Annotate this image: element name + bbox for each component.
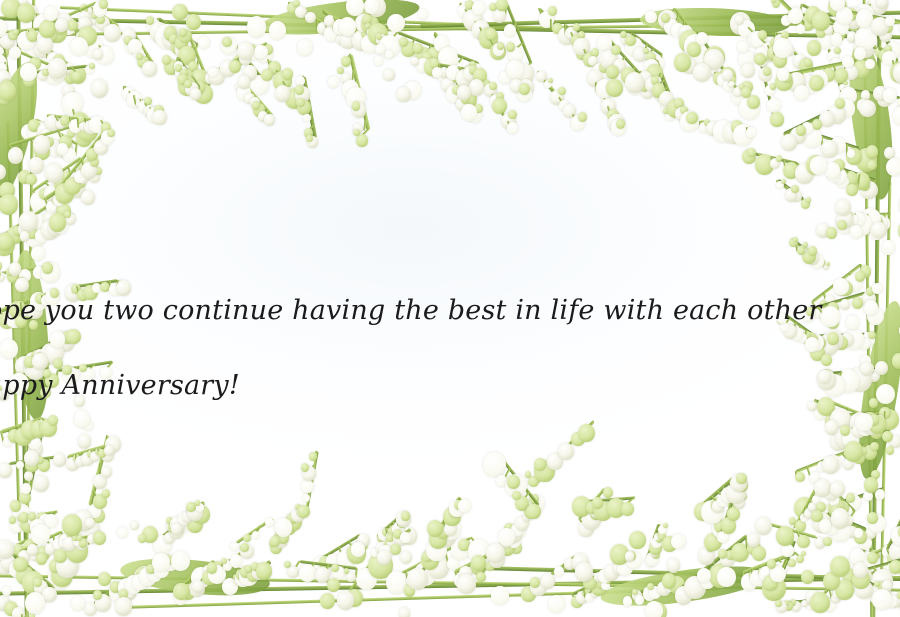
flower-stem (877, 46, 900, 91)
flower-green-bud (287, 2, 298, 14)
flower-stem (129, 583, 131, 589)
flower-bell (42, 587, 57, 603)
flower-stem (878, 487, 885, 493)
flower-bell (0, 595, 10, 611)
flower-stem (372, 17, 375, 25)
flower-green-bud (28, 119, 40, 131)
flower-green-bud (596, 578, 606, 588)
flower-bell (504, 24, 516, 37)
flower-bell (882, 51, 896, 66)
flower-green-bud (0, 233, 13, 250)
flower-bell (884, 594, 897, 608)
flower-bell (872, 589, 892, 610)
flower-bell (871, 582, 891, 603)
flower-bell (875, 489, 885, 500)
flower-stem (413, 579, 417, 591)
flower-bell (866, 528, 877, 540)
flower-stem (325, 24, 329, 34)
flower-green-bud (91, 12, 98, 19)
flower-green-bud (293, 0, 300, 7)
flower-bell (78, 17, 91, 31)
flower-bell (870, 6, 881, 18)
flower-stem (866, 177, 871, 186)
flower-green-bud (25, 458, 38, 472)
flower-bell (869, 214, 887, 233)
flower-stem (0, 597, 5, 602)
flower-bell (25, 454, 39, 469)
flower-green-bud (13, 557, 27, 573)
flower-bell (885, 42, 900, 59)
flower-stem (659, 584, 662, 594)
flower-green-bud (661, 13, 670, 23)
flower-stem (674, 14, 680, 28)
flower-stem (861, 14, 865, 19)
flower-green-bud (376, 33, 383, 40)
flower-bell (18, 220, 35, 238)
flower-stem (810, 599, 815, 604)
flower-stem (165, 26, 173, 35)
flower-stem (354, 29, 361, 40)
flower-green-bud (23, 539, 37, 554)
flower-stem (882, 17, 891, 25)
flower-stem (875, 16, 880, 23)
flower-stem (119, 585, 123, 593)
flower-bell (17, 31, 34, 50)
flower-bell (866, 587, 876, 598)
flower-bell (833, 589, 841, 598)
flower-green-bud (762, 575, 786, 601)
flower-green-bud (29, 71, 37, 79)
flower-bell (15, 0, 29, 12)
flower-bell (19, 211, 38, 232)
flower-bell (0, 37, 2, 46)
flower-stem (872, 213, 874, 219)
flower-bell (457, 574, 475, 593)
flower-leaf (259, 0, 421, 39)
flower-green-bud (871, 470, 880, 480)
flower-green-bud (110, 581, 121, 593)
flower-stem (571, 593, 578, 601)
flower-bell (645, 601, 663, 617)
flower-stem (91, 10, 96, 21)
flower-green-bud (820, 18, 831, 29)
flower-green-bud (82, 27, 88, 33)
flower-green-bud (620, 31, 627, 38)
flower-bell (776, 601, 787, 613)
flower-green-bud (819, 16, 825, 23)
flower-bell (305, 12, 315, 23)
flower-green-bud (26, 28, 36, 39)
flower-stem (863, 580, 874, 590)
flower-stem (2, 27, 46, 34)
flower-stem (513, 23, 515, 31)
flower-green-bud (879, 49, 891, 61)
flower-bell (882, 580, 893, 592)
flower-green-bud (20, 515, 37, 533)
flower-green-bud (356, 2, 365, 12)
flower-stem (95, 2, 99, 10)
flower-stem (834, 24, 843, 32)
flower-green-bud (867, 552, 878, 564)
flower-stem (6, 553, 15, 561)
flower-bell (859, 552, 873, 567)
flower-green-bud (648, 602, 667, 617)
flower-green-bud (784, 600, 789, 606)
flower-stem (173, 31, 179, 39)
flower-green-bud (869, 550, 880, 562)
flower-stem (365, 5, 368, 11)
flower-bell (635, 595, 645, 605)
flower-bell (20, 63, 37, 81)
flower-green-bud (9, 31, 18, 40)
flower-bell (873, 15, 887, 30)
flower-green-bud (632, 589, 638, 596)
flower-bell (0, 463, 12, 477)
flower-bell (844, 7, 864, 29)
flower-bell (109, 582, 128, 602)
flower-bell (16, 461, 24, 469)
flower-stem (51, 10, 56, 19)
flower-stem (182, 584, 188, 592)
flower-bell (42, 590, 54, 602)
flower-bell (789, 6, 802, 20)
flower-bell (269, 21, 287, 40)
flower-green-bud (816, 27, 826, 38)
flower-stem (864, 213, 868, 225)
flower-green-bud (181, 584, 196, 600)
flower-stem (392, 576, 395, 583)
flower-bell (861, 90, 871, 101)
flower-stem (11, 547, 17, 554)
flower-stem (32, 190, 40, 202)
flower-bell (632, 590, 642, 601)
flower-green-bud (93, 590, 103, 600)
flower-bell (738, 20, 755, 38)
flower-stem (831, 0, 898, 32)
flower-leaf (639, 3, 791, 41)
flower-green-bud (0, 41, 9, 61)
flower-stem (50, 581, 58, 596)
flower-green-bud (775, 600, 782, 607)
flower-green-bud (578, 31, 586, 39)
flower-green-bud (867, 160, 876, 170)
flower-bell (57, 13, 72, 29)
flower-stem (880, 515, 883, 524)
flower-stem (788, 601, 792, 606)
flower-green-bud (33, 578, 41, 587)
flower-stem (854, 12, 859, 18)
flower-stem (469, 15, 472, 21)
flower-bell (801, 600, 807, 607)
flower-bell (25, 592, 45, 613)
flower-stem (28, 30, 30, 37)
flower-green-bud (889, 560, 900, 574)
flower-stem (0, 556, 3, 568)
flower-stem (14, 608, 20, 614)
flower-green-bud (805, 6, 821, 24)
flower-stem (24, 72, 30, 80)
flower-green-bud (771, 0, 776, 3)
flower-green-bud (878, 582, 890, 595)
flower-green-bud (860, 180, 870, 191)
flower-stem (822, 594, 832, 604)
flower-stem (777, 0, 780, 5)
flower-stem (120, 587, 720, 609)
flower-bell (44, 23, 59, 39)
flower-stem (297, 6, 302, 11)
flower-bell (885, 16, 895, 26)
flower-stem (842, 21, 845, 28)
flower-stem (637, 591, 640, 596)
flower-stem (0, 597, 45, 617)
flower-green-bud (13, 29, 18, 35)
flower-green-bud (806, 598, 812, 604)
flower-green-bud (39, 20, 55, 38)
flower-green-bud (179, 28, 187, 37)
flower-stem (886, 501, 900, 551)
flower-green-bud (16, 566, 34, 585)
flower-green-bud (0, 194, 18, 215)
flower-green-bud (591, 578, 607, 595)
flower-bell (591, 590, 599, 599)
flower-stem (322, 9, 367, 38)
flower-green-bud (530, 577, 540, 588)
flower-stem (878, 213, 880, 224)
flower-stem (862, 91, 866, 97)
flower-stem (882, 31, 884, 36)
flower-bell (30, 552, 39, 561)
flower-stem (4, 88, 11, 98)
flower-bell (623, 596, 633, 606)
flower-green-bud (465, 0, 474, 10)
flower-bell (844, 578, 853, 588)
flower-bell (92, 13, 104, 25)
card-message-line-2: appy Anniversary! (0, 369, 900, 404)
flower-stem (197, 577, 204, 587)
flower-stem (2, 32, 5, 42)
flower-stem (589, 585, 593, 595)
flower-green-bud (866, 145, 879, 159)
flower-stem (33, 214, 40, 223)
flower-green-bud (582, 589, 589, 597)
flower-stem (134, 578, 138, 585)
flower-bell (147, 19, 161, 34)
flower-stem (8, 0, 11, 7)
flower-stem (52, 587, 55, 595)
flower-stem (678, 576, 683, 586)
flower-stem (856, 577, 862, 590)
flower-stem (37, 28, 45, 37)
flower-bell (43, 24, 53, 35)
flower-stem (840, 10, 844, 16)
flower-green-bud (362, 14, 372, 25)
flower-bell (21, 483, 31, 493)
flower-green-bud (19, 492, 31, 505)
flower-stem (781, 602, 785, 608)
flower-bell (491, 586, 508, 605)
flower-stem (53, 27, 56, 33)
flower-stem (601, 579, 606, 586)
flower-stem (61, 17, 63, 22)
flower-stem (44, 19, 51, 31)
flower-stem (801, 3, 869, 41)
flower-stem (823, 17, 829, 23)
flower-bell (643, 586, 657, 601)
flower-stem (871, 525, 877, 533)
flower-green-bud (1, 232, 14, 246)
flower-bell (806, 590, 820, 605)
flower-bell (0, 540, 14, 559)
flower-green-bud (835, 580, 854, 600)
flower-stem (679, 588, 685, 595)
flower-bell (0, 54, 7, 72)
flower-stem (78, 9, 85, 18)
flower-bell (893, 62, 900, 84)
flower-bell (796, 24, 805, 33)
flower-bell (12, 607, 25, 617)
flower-bell (387, 14, 404, 33)
flower-green-bud (99, 0, 108, 9)
flower-bell (85, 14, 95, 25)
flower-stem (43, 580, 47, 589)
flower-bell (27, 544, 37, 555)
flower-stem (896, 61, 898, 71)
flower-green-bud (838, 587, 844, 593)
flower-green-bud (883, 22, 893, 33)
flower-stem (10, 229, 12, 235)
flower-stem (25, 502, 28, 514)
flower-stem (896, 529, 900, 535)
flower-green-bud (887, 552, 899, 565)
flower-stem (870, 179, 876, 190)
flower-bell (9, 46, 21, 59)
flower-bell (84, 602, 97, 616)
flower-stem (89, 6, 118, 27)
flower-stem (652, 586, 654, 594)
flower-bell (115, 597, 132, 616)
flower-bell (96, 16, 110, 31)
flower-stem (892, 60, 896, 73)
flower-green-bud (173, 583, 189, 600)
flower-stem (63, 19, 66, 27)
flower-bell (1, 555, 16, 571)
flower-stem (571, 579, 602, 596)
flower-green-bud (19, 512, 29, 523)
flower-bell (24, 471, 33, 481)
flower-green-bud (548, 6, 557, 16)
flower-green-bud (361, 27, 372, 39)
flower-stem (88, 7, 91, 13)
flower-bell (55, 18, 68, 32)
flower-bell (192, 580, 204, 593)
flower-stem (106, 591, 111, 604)
flower-bell (675, 586, 692, 604)
flower-green-bud (9, 516, 17, 524)
flower-bell (823, 598, 836, 612)
flower-stem (464, 8, 471, 16)
flower-stem (23, 516, 28, 523)
flower-stem (190, 578, 193, 590)
flower-green-bud (0, 182, 15, 200)
flower-bell (295, 6, 306, 18)
flower-stem (288, 1, 290, 9)
flower-bell (0, 164, 6, 180)
flower-stem (8, 0, 54, 29)
flower-stem (883, 213, 885, 225)
flower-bell (6, 544, 25, 564)
flower-stem (44, 24, 49, 30)
flower-stem (784, 10, 793, 19)
flower-stem (26, 466, 35, 475)
flower-bell (93, 1, 108, 17)
flower-green-bud (790, 599, 796, 606)
flower-stem (632, 576, 683, 596)
flower-bell (868, 585, 886, 604)
flower-stem (876, 48, 879, 54)
flower-green-bud (146, 16, 154, 25)
flower-stem (631, 593, 634, 602)
flower-stem (10, 31, 13, 36)
flower-stem (852, 32, 856, 38)
flower-stem (835, 580, 839, 591)
flower-bell (0, 70, 11, 87)
flower-bell (658, 10, 676, 30)
flower-stem (25, 539, 29, 547)
flower-green-bud (327, 578, 340, 592)
flower-stem (307, 13, 309, 19)
flower-green-bud (841, 578, 851, 589)
flower-stem (741, 21, 746, 30)
flower-stem (35, 13, 42, 25)
flower-green-bud (583, 576, 596, 590)
flower-green-bud (606, 578, 611, 584)
flower-green-bud (8, 30, 17, 40)
flower-stem (861, 529, 866, 538)
flower-bell (548, 595, 565, 613)
flower-bell (871, 569, 893, 593)
flower-stem (0, 35, 3, 42)
flower-stem (20, 461, 23, 466)
flower-green-bud (828, 0, 847, 17)
flower-bell (60, 17, 77, 35)
flower-stem (772, 580, 779, 587)
flower-stem (9, 144, 17, 155)
flower-bell (418, 9, 428, 20)
flower-bell (368, 0, 386, 17)
flower-bell (333, 19, 348, 35)
flower-stem (583, 588, 586, 599)
flower-stem (110, 21, 113, 31)
flower-bell (649, 586, 661, 599)
flower-stem (828, 587, 833, 599)
flower-stem (664, 581, 669, 589)
flower-green-bud (845, 8, 857, 21)
flower-stem (74, 27, 78, 37)
flower-stem (504, 3, 508, 16)
flower-green-bud (8, 0, 27, 16)
flower-green-bud (758, 30, 767, 40)
flower-bell (95, 594, 111, 611)
flower-stem (802, 23, 805, 30)
flower-bell (364, 0, 379, 14)
flower-stem (288, 1, 346, 37)
flower-bell (2, 586, 11, 596)
flower-bell (601, 581, 610, 590)
flower-bell (44, 6, 58, 21)
flower-stem (349, 589, 356, 597)
flower-stem (891, 539, 900, 550)
flower-stem (883, 589, 891, 601)
